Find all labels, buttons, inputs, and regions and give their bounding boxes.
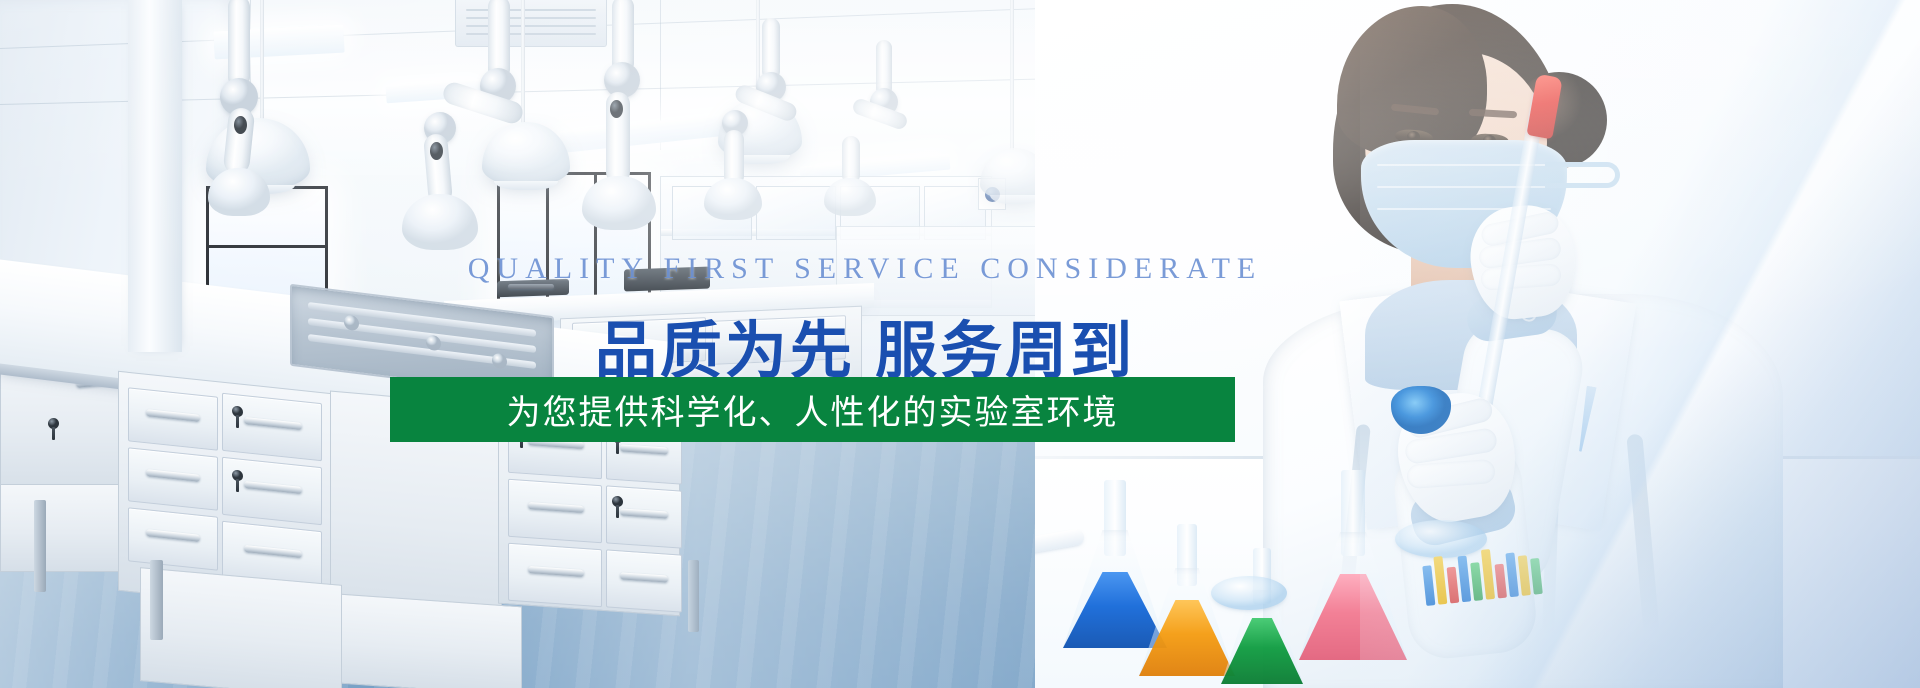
english-tagline: QUALITY FIRST SERVICE CONSIDERATE — [455, 252, 1275, 286]
green-bar-text: 为您提供科学化、人性化的实验室环境 — [507, 385, 1119, 434]
text-overlay: QUALITY FIRST SERVICE CONSIDERATE 品质为先 服… — [0, 0, 1920, 688]
hero-banner: QUALITY FIRST SERVICE CONSIDERATE 品质为先 服… — [0, 0, 1920, 688]
green-subtitle-bar: 为您提供科学化、人性化的实验室环境 — [390, 377, 1235, 442]
